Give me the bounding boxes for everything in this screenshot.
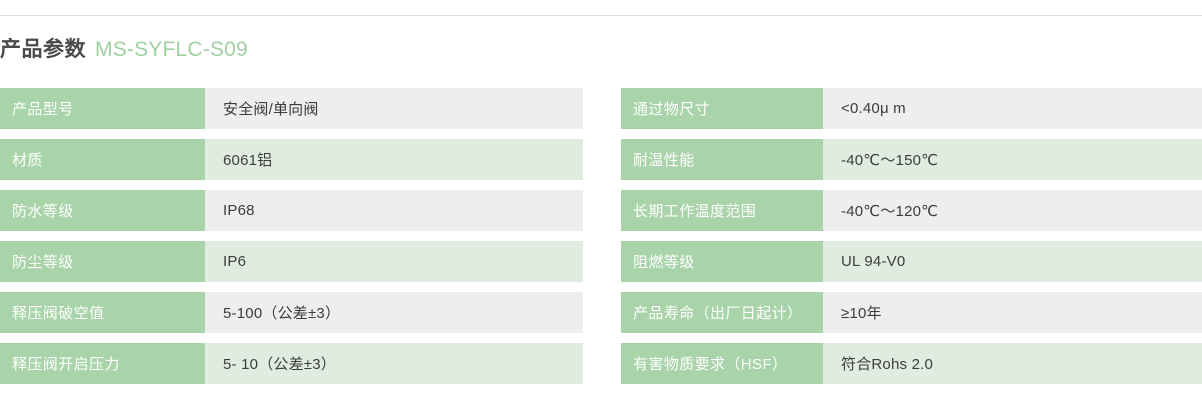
spec-value: 符合Rohs 2.0 [823,343,1202,384]
spec-value: -40℃～150℃ [823,139,1202,180]
table-row: 产品寿命（出厂日起计） ≥10年 [621,292,1202,333]
spec-table-left: 产品型号 安全阀/单向阀 材质 6061铝 防水等级 IP68 防尘等级 IP6… [0,88,583,384]
spec-value: -40℃～120℃ [823,190,1202,231]
spec-label: 材质 [0,139,205,180]
spec-value: 5-100（公差±3） [205,292,583,333]
spec-label: 耐温性能 [621,139,823,180]
table-row: 耐温性能 -40℃～150℃ [621,139,1202,180]
spec-value: IP68 [205,190,583,231]
spec-label: 释压阀开启压力 [0,343,205,384]
spec-value: UL 94-V0 [823,241,1202,282]
spec-label: 防水等级 [0,190,205,231]
page-title: 产品参数 [0,33,86,63]
spec-label: 通过物尺寸 [621,88,823,129]
spec-value: 安全阀/单向阀 [205,88,583,129]
spec-value: 5- 10（公差±3） [205,343,583,384]
product-model-number: MS-SYFLC-S09 [95,38,248,62]
table-row: 释压阀破空值 5-100（公差±3） [0,292,583,333]
table-row: 阻燃等级 UL 94-V0 [621,241,1202,282]
top-divider [0,15,1202,16]
page-header: 产品参数 MS-SYFLC-S09 [0,33,248,63]
spec-label: 有害物质要求（HSF） [621,343,823,384]
table-row: 防尘等级 IP6 [0,241,583,282]
table-row: 材质 6061铝 [0,139,583,180]
table-row: 防水等级 IP68 [0,190,583,231]
table-row: 产品型号 安全阀/单向阀 [0,88,583,129]
table-row: 通过物尺寸 <0.40μ m [621,88,1202,129]
table-row: 长期工作温度范围 -40℃～120℃ [621,190,1202,231]
spec-value: IP6 [205,241,583,282]
table-row: 有害物质要求（HSF） 符合Rohs 2.0 [621,343,1202,384]
spec-table-right: 通过物尺寸 <0.40μ m 耐温性能 -40℃～150℃ 长期工作温度范围 -… [621,88,1202,384]
spec-label: 产品寿命（出厂日起计） [621,292,823,333]
spec-value: 6061铝 [205,139,583,180]
spec-label: 阻燃等级 [621,241,823,282]
product-spec-page: 产品参数 MS-SYFLC-S09 产品型号 安全阀/单向阀 材质 6061铝 … [0,0,1202,411]
spec-label: 产品型号 [0,88,205,129]
spec-label: 长期工作温度范围 [621,190,823,231]
table-row: 释压阀开启压力 5- 10（公差±3） [0,343,583,384]
spec-label: 释压阀破空值 [0,292,205,333]
spec-label: 防尘等级 [0,241,205,282]
spec-value: <0.40μ m [823,88,1202,129]
spec-value: ≥10年 [823,292,1202,333]
spec-tables: 产品型号 安全阀/单向阀 材质 6061铝 防水等级 IP68 防尘等级 IP6… [0,88,1202,384]
